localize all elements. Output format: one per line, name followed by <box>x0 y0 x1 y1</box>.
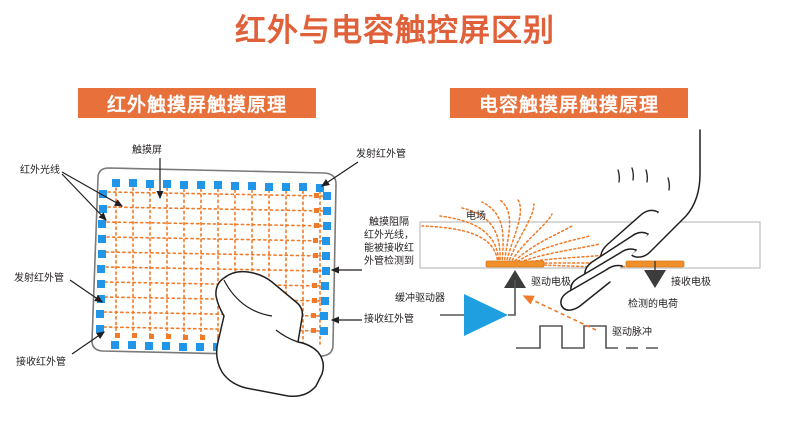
infrared-svg <box>10 130 390 400</box>
capacitive-diagram: 电场 驱动电极 接收电极 缓冲驱动器 检测的电荷 驱动脉冲 <box>400 130 785 400</box>
label-detected-charge: 检测的电荷 <box>628 298 678 311</box>
label-recv-ir-tube-bottom: 接收红外管 <box>16 356 66 369</box>
label-emit-ir-tube-top: 发射红外管 <box>356 148 406 161</box>
section-banner-infrared: 红外触摸屏触摸原理 <box>78 88 316 118</box>
knuckle-marks <box>618 168 669 190</box>
label-emit-ir-tube-left: 发射红外管 <box>14 272 64 285</box>
section-banner-capacitive: 电容触摸屏触摸原理 <box>450 88 688 118</box>
drive-electrode-bar <box>486 261 544 267</box>
label-drive-pulse: 驱动脉冲 <box>612 326 652 339</box>
label-ir-rays: 红外光线 <box>20 164 60 177</box>
glass-substrate <box>420 222 760 268</box>
label-touch-screen: 触摸屏 <box>132 144 162 157</box>
label-receive-electrode: 接收电极 <box>671 276 711 289</box>
page-title: 红外与电容触控屏区别 <box>0 12 790 50</box>
infographic-page: 红外与电容触控屏区别 红外触摸屏触摸原理 电容触摸屏触摸原理 <box>0 0 790 423</box>
infrared-diagram: 触摸屏 红外光线 发射红外管 发射红外管 接收红外管 接收红外管 触摸阻隔 红外… <box>10 130 390 400</box>
receive-electrode-arrow-icon <box>644 270 666 288</box>
label-drive-electrode: 驱动电极 <box>531 276 571 289</box>
label-electric-field: 电场 <box>466 210 486 223</box>
label-buffer-driver: 缓冲驱动器 <box>395 292 445 305</box>
capacitive-svg <box>400 130 785 400</box>
buffer-driver-amplifier-icon <box>464 294 508 336</box>
